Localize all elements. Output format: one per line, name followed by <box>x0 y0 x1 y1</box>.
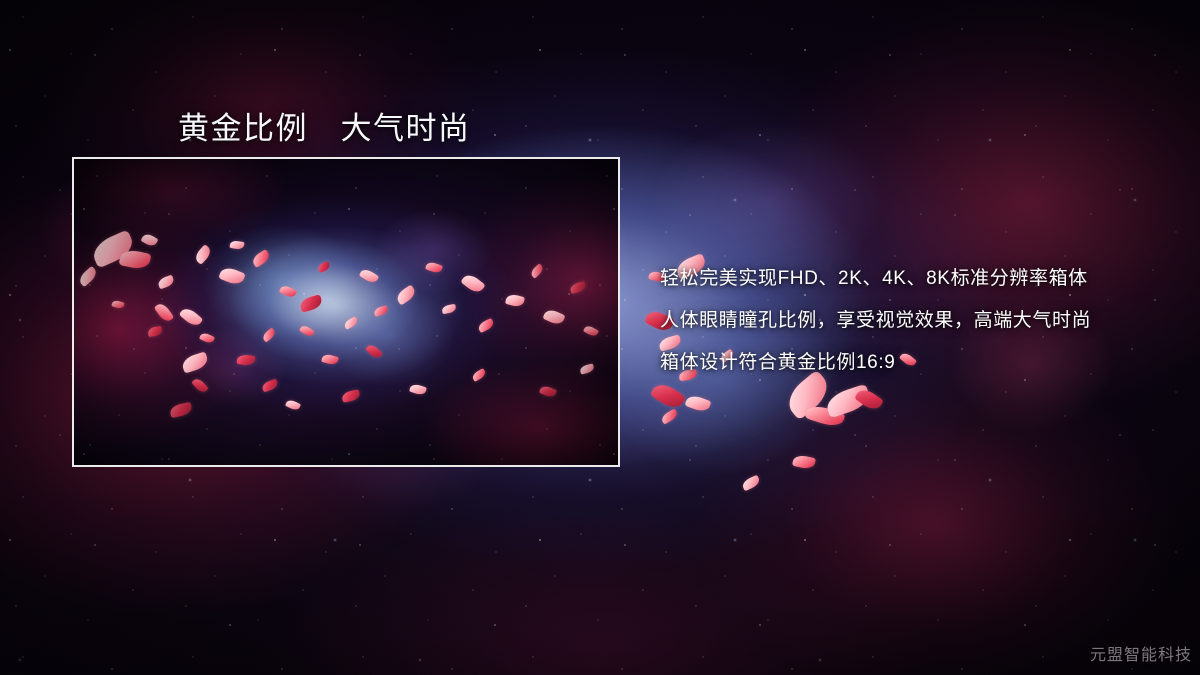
petal <box>824 384 873 419</box>
body-line-1: 轻松完美实现FHD、2K、4K、8K标准分辨率箱体 <box>660 258 1180 300</box>
framed-image <box>72 157 620 467</box>
petal <box>650 380 687 413</box>
brand-watermark: 元盟智能科技 <box>1090 641 1192 665</box>
body-line-3: 箱体设计符合黄金比例16:9 <box>660 342 1180 384</box>
framed-image-wisp <box>74 159 618 465</box>
slide-title: 黄金比例 大气时尚 <box>178 103 471 148</box>
petal <box>741 475 762 492</box>
slide-body-text: 轻松完美实现FHD、2K、4K、8K标准分辨率箱体 人体眼睛瞳孔比例，享受视觉效… <box>660 258 1180 384</box>
petal <box>792 454 816 470</box>
presentation-slide: 黄金比例 大气时尚 轻松完美实现FHD、2K、4K、8K标准分辨率箱体 人体眼睛… <box>0 0 1200 675</box>
petal <box>660 408 679 424</box>
petal <box>804 403 845 430</box>
body-line-2: 人体眼睛瞳孔比例，享受视觉效果，高端大气时尚 <box>660 300 1180 342</box>
petal <box>854 386 884 413</box>
petal <box>685 393 712 413</box>
